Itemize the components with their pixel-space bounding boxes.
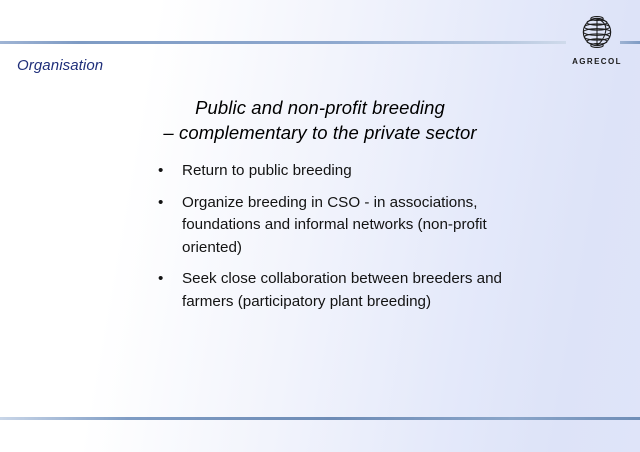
presentation-slide: Organisation AGRECOL Public and non-prof… [0,0,640,452]
slide-title-line-1: Public and non-profit breeding [0,95,640,120]
bullet-marker-icon: • [158,192,163,215]
bullet-item: • Return to public breeding [152,160,512,183]
bullet-marker-icon: • [158,160,163,183]
bullet-list: • Return to public breeding • Organize b… [152,160,512,322]
bullet-text: Return to public breeding [182,160,512,183]
bullet-text: Seek close collaboration between breeder… [182,268,512,313]
section-label: Organisation [17,57,103,74]
footer-divider-line [0,417,640,420]
slide-title-line-2: – complementary to the private sector [0,120,640,145]
agrecol-wordmark: AGRECOL [566,57,628,66]
bullet-item: • Organize breeding in CSO - in associat… [152,192,512,260]
agrecol-logo: AGRECOL [566,8,628,74]
bullet-item: • Seek close collaboration between breed… [152,268,512,313]
header-divider-line [0,41,566,44]
bullet-marker-icon: • [158,268,163,291]
globe-icon [573,8,621,56]
slide-title: Public and non-profit breeding – complem… [0,95,640,145]
bullet-text: Organize breeding in CSO - in associatio… [182,192,512,260]
